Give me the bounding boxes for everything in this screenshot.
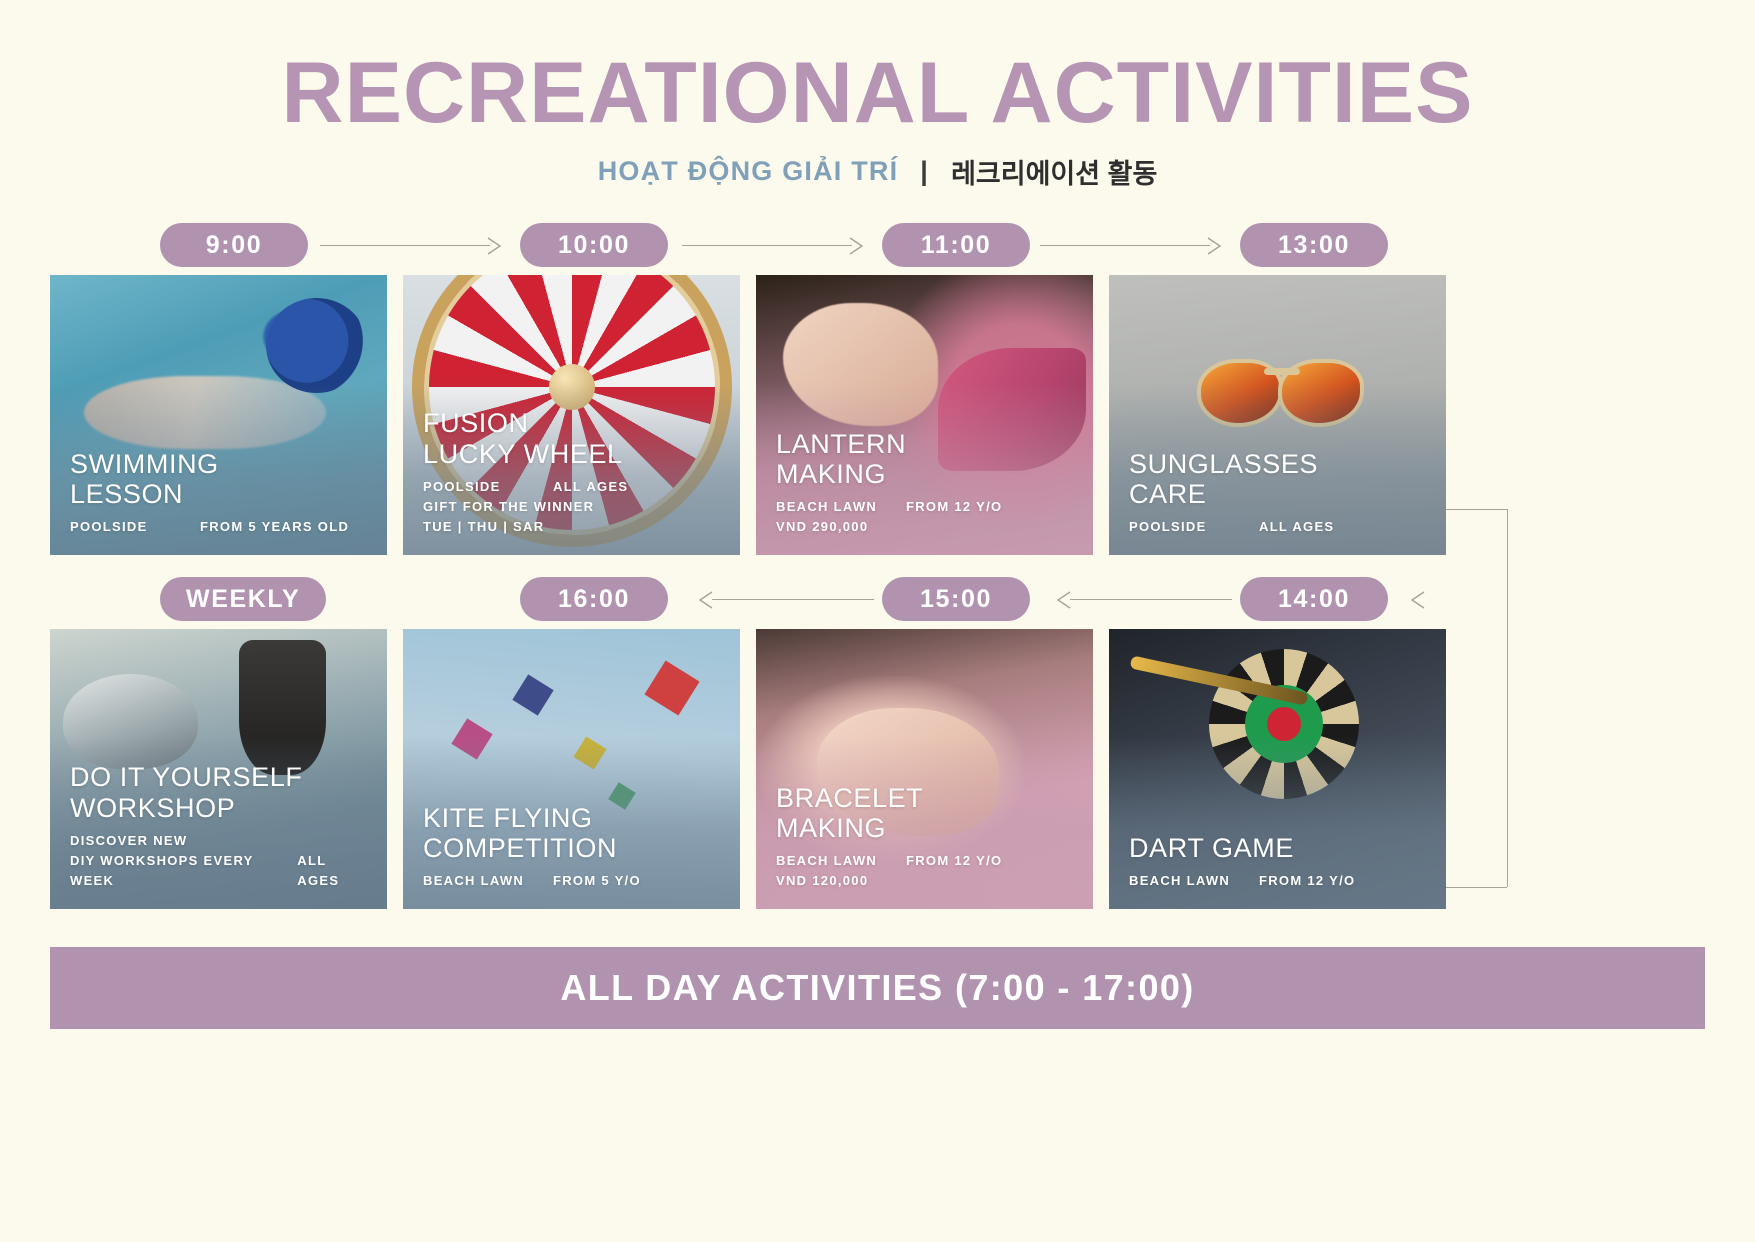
card-meta-line: BEACH LAWN FROM 12 Y/O: [776, 497, 1077, 517]
card-title-line2: COMPETITION: [423, 833, 724, 863]
time-pill-0900[interactable]: 9:00: [160, 223, 308, 267]
connector-1000-1100: [682, 245, 852, 246]
card-meta-location: POOLSIDE: [70, 517, 200, 537]
time-pill-1500[interactable]: 15:00: [882, 577, 1030, 621]
card-meta-location: BEACH LAWN: [776, 851, 906, 871]
activity-card-swimming-lesson[interactable]: SWIMMING LESSON POOLSIDE FROM 5 YEARS OL…: [50, 275, 387, 555]
subtitle-korean: 레크리에이션 활동: [951, 152, 1157, 191]
card-meta-price: VND 290,000: [776, 517, 1077, 537]
card-meta-location: BEACH LAWN: [776, 497, 906, 517]
card-meta-age: ALL AGES: [1259, 517, 1334, 537]
activity-card-sunglasses-care[interactable]: SUNGLASSES CARE POOLSIDE ALL AGES: [1109, 275, 1446, 555]
activity-card-diy-workshop[interactable]: DO IT YOURSELF WORKSHOP DISCOVER NEW DIY…: [50, 629, 387, 909]
all-day-activities-bar: ALL DAY ACTIVITIES (7:00 - 17:00): [50, 947, 1705, 1029]
time-pill-1100[interactable]: 11:00: [882, 223, 1030, 267]
card-text-block: SUNGLASSES CARE POOLSIDE ALL AGES: [1129, 449, 1430, 538]
kite-graphic: [645, 661, 700, 716]
card-title-line1: DO IT YOURSELF: [70, 762, 371, 792]
schedule-board: 9:00 10:00 11:00 13:00 SWIMMING LESSON: [0, 219, 1755, 1029]
activity-card-bracelet-making[interactable]: BRACELET MAKING BEACH LAWN FROM 12 Y/O V…: [756, 629, 1093, 909]
subtitle-vietnamese: HOẠT ĐỘNG GIẢI TRÍ: [598, 156, 899, 187]
card-meta-line: BEACH LAWN FROM 12 Y/O: [1129, 871, 1430, 891]
activity-card-lantern-making[interactable]: LANTERN MAKING BEACH LAWN FROM 12 Y/O VN…: [756, 275, 1093, 555]
connector-wrap-vertical: [1507, 509, 1508, 887]
time-pill-1300[interactable]: 13:00: [1240, 223, 1388, 267]
card-meta-location: POOLSIDE: [423, 477, 553, 497]
card-title-line1: BRACELET: [776, 783, 1077, 813]
card-meta-line: BEACH LAWN FROM 5 Y/O: [423, 871, 724, 891]
card-title-line1: LANTERN: [776, 429, 1077, 459]
card-text-block: DO IT YOURSELF WORKSHOP DISCOVER NEW DIY…: [70, 762, 371, 891]
card-title-line2: CARE: [1129, 479, 1430, 509]
subtitle-row: HOẠT ĐỘNG GIẢI TRÍ | 레크리에이션 활동: [0, 152, 1755, 191]
card-meta-age: FROM 12 Y/O: [906, 851, 1002, 871]
arrow-right-2: [848, 235, 868, 257]
arrow-left-wrap: [1406, 589, 1426, 611]
card-title-line2: WORKSHOP: [70, 793, 371, 823]
card-title-line2: LESSON: [70, 479, 371, 509]
card-meta-line: POOLSIDE ALL AGES: [423, 477, 724, 497]
card-meta-line: BEACH LAWN FROM 12 Y/O: [776, 851, 1077, 871]
card-title-line2: MAKING: [776, 459, 1077, 489]
sunglasses-bridge-graphic: [1264, 368, 1300, 375]
time-pill-weekly[interactable]: WEEKLY: [160, 577, 326, 621]
page-title: RECREATIONAL ACTIVITIES: [0, 48, 1755, 138]
time-pill-1000[interactable]: 10:00: [520, 223, 668, 267]
card-meta-age: ALL AGES: [553, 477, 628, 497]
card-meta-line: POOLSIDE ALL AGES: [1129, 517, 1430, 537]
card-text-block: LANTERN MAKING BEACH LAWN FROM 12 Y/O VN…: [776, 429, 1077, 538]
card-meta-extra1: GIFT FOR THE WINNER: [423, 497, 724, 517]
connector-0900-1000: [320, 245, 490, 246]
card-meta-age: FROM 5 Y/O: [553, 871, 641, 891]
card-title-line1: SWIMMING: [70, 449, 371, 479]
card-meta-age: ALL AGES: [297, 851, 371, 891]
card-text-block: KITE FLYING COMPETITION BEACH LAWN FROM …: [423, 803, 724, 892]
card-meta-age: FROM 5 YEARS OLD: [200, 517, 349, 537]
time-pill-1600[interactable]: 16:00: [520, 577, 668, 621]
connector-1100-1300: [1040, 245, 1210, 246]
card-text-block: BRACELET MAKING BEACH LAWN FROM 12 Y/O V…: [776, 783, 1077, 892]
kite-graphic: [512, 674, 553, 715]
connector-1600-1500: [712, 599, 874, 600]
card-meta-location: POOLSIDE: [1129, 517, 1259, 537]
card-text-block: FUSION LUCKY WHEEL POOLSIDE ALL AGES GIF…: [423, 408, 724, 537]
card-title-line1: FUSION: [423, 408, 724, 438]
card-text-block: SWIMMING LESSON POOLSIDE FROM 5 YEARS OL…: [70, 449, 371, 538]
card-title-line1: SUNGLASSES: [1129, 449, 1430, 479]
activity-cards-row-1: SWIMMING LESSON POOLSIDE FROM 5 YEARS OL…: [0, 275, 1755, 555]
card-meta-location: BEACH LAWN: [1129, 871, 1259, 891]
activity-cards-row-2: DO IT YOURSELF WORKSHOP DISCOVER NEW DIY…: [0, 629, 1755, 909]
card-meta-price: VND 120,000: [776, 871, 1077, 891]
card-title-line1: DART GAME: [1129, 833, 1430, 863]
activity-card-kite-flying-competition[interactable]: KITE FLYING COMPETITION BEACH LAWN FROM …: [403, 629, 740, 909]
card-title-line2: MAKING: [776, 813, 1077, 843]
arrow-right-1: [486, 235, 506, 257]
card-meta-frequency: DIY WORKSHOPS EVERY WEEK: [70, 851, 297, 891]
card-meta-line: POOLSIDE FROM 5 YEARS OLD: [70, 517, 371, 537]
card-title-line2: LUCKY WHEEL: [423, 439, 724, 469]
card-title-line1: KITE FLYING: [423, 803, 724, 833]
card-meta-tagline: DISCOVER NEW: [70, 831, 371, 851]
arrow-left-2: [1052, 589, 1072, 611]
card-meta-location: BEACH LAWN: [423, 871, 553, 891]
all-day-activities-label: ALL DAY ACTIVITIES (7:00 - 17:00): [560, 967, 1194, 1009]
card-meta-line: DIY WORKSHOPS EVERY WEEK ALL AGES: [70, 851, 371, 891]
timeline-row-afternoon: WEEKLY 16:00 15:00 14:00: [0, 573, 1755, 629]
card-text-block: DART GAME BEACH LAWN FROM 12 Y/O: [1129, 833, 1430, 891]
card-meta-age: FROM 12 Y/O: [1259, 871, 1355, 891]
card-meta-extra2: TUE | THU | SAR: [423, 517, 724, 537]
time-pill-1400[interactable]: 14:00: [1240, 577, 1388, 621]
connector-1500-1400: [1070, 599, 1232, 600]
card-meta-age: FROM 12 Y/O: [906, 497, 1002, 517]
arrow-left-1: [694, 589, 714, 611]
subtitle-separator: |: [920, 156, 929, 187]
page-header: RECREATIONAL ACTIVITIES HOẠT ĐỘNG GIẢI T…: [0, 0, 1755, 191]
timeline-row-morning: 9:00 10:00 11:00 13:00: [0, 219, 1755, 275]
activity-card-dart-game[interactable]: DART GAME BEACH LAWN FROM 12 Y/O: [1109, 629, 1446, 909]
activity-card-fusion-lucky-wheel[interactable]: FUSION LUCKY WHEEL POOLSIDE ALL AGES GIF…: [403, 275, 740, 555]
arrow-right-3: [1206, 235, 1226, 257]
